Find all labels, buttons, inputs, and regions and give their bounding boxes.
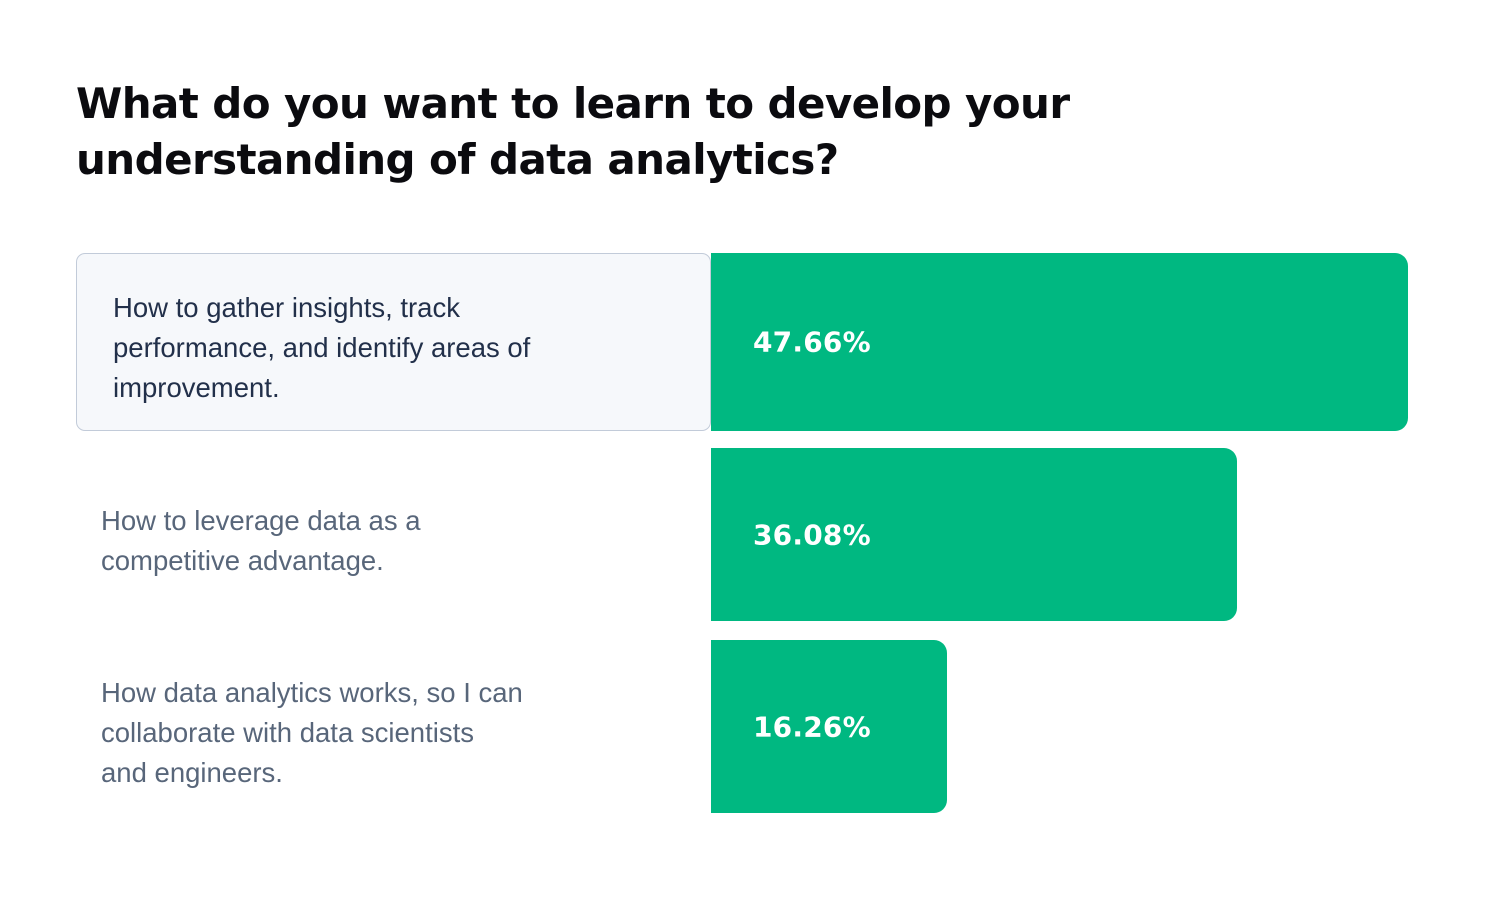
bar-value-label: 47.66% xyxy=(753,326,871,359)
bar[interactable]: 47.66% xyxy=(711,253,1408,431)
chart-row[interactable]: How to leverage data as a competitive ad… xyxy=(0,448,1488,621)
row-category-label: How to gather insights, track performanc… xyxy=(113,288,693,408)
chart-row[interactable]: How data analytics works, so I can colla… xyxy=(0,640,1488,813)
row-category-label: How data analytics works, so I can colla… xyxy=(101,673,691,793)
bar-value-label: 16.26% xyxy=(753,710,871,743)
bar[interactable]: 16.26% xyxy=(711,640,947,813)
row-category-label: How to leverage data as a competitive ad… xyxy=(101,501,691,581)
bar-chart-rows: How to gather insights, track performanc… xyxy=(0,0,1488,913)
chart-container: What do you want to learn to develop you… xyxy=(0,0,1488,913)
bar-value-label: 36.08% xyxy=(753,518,871,551)
bar[interactable]: 36.08% xyxy=(711,448,1237,621)
chart-row[interactable]: How to gather insights, track performanc… xyxy=(0,253,1488,431)
